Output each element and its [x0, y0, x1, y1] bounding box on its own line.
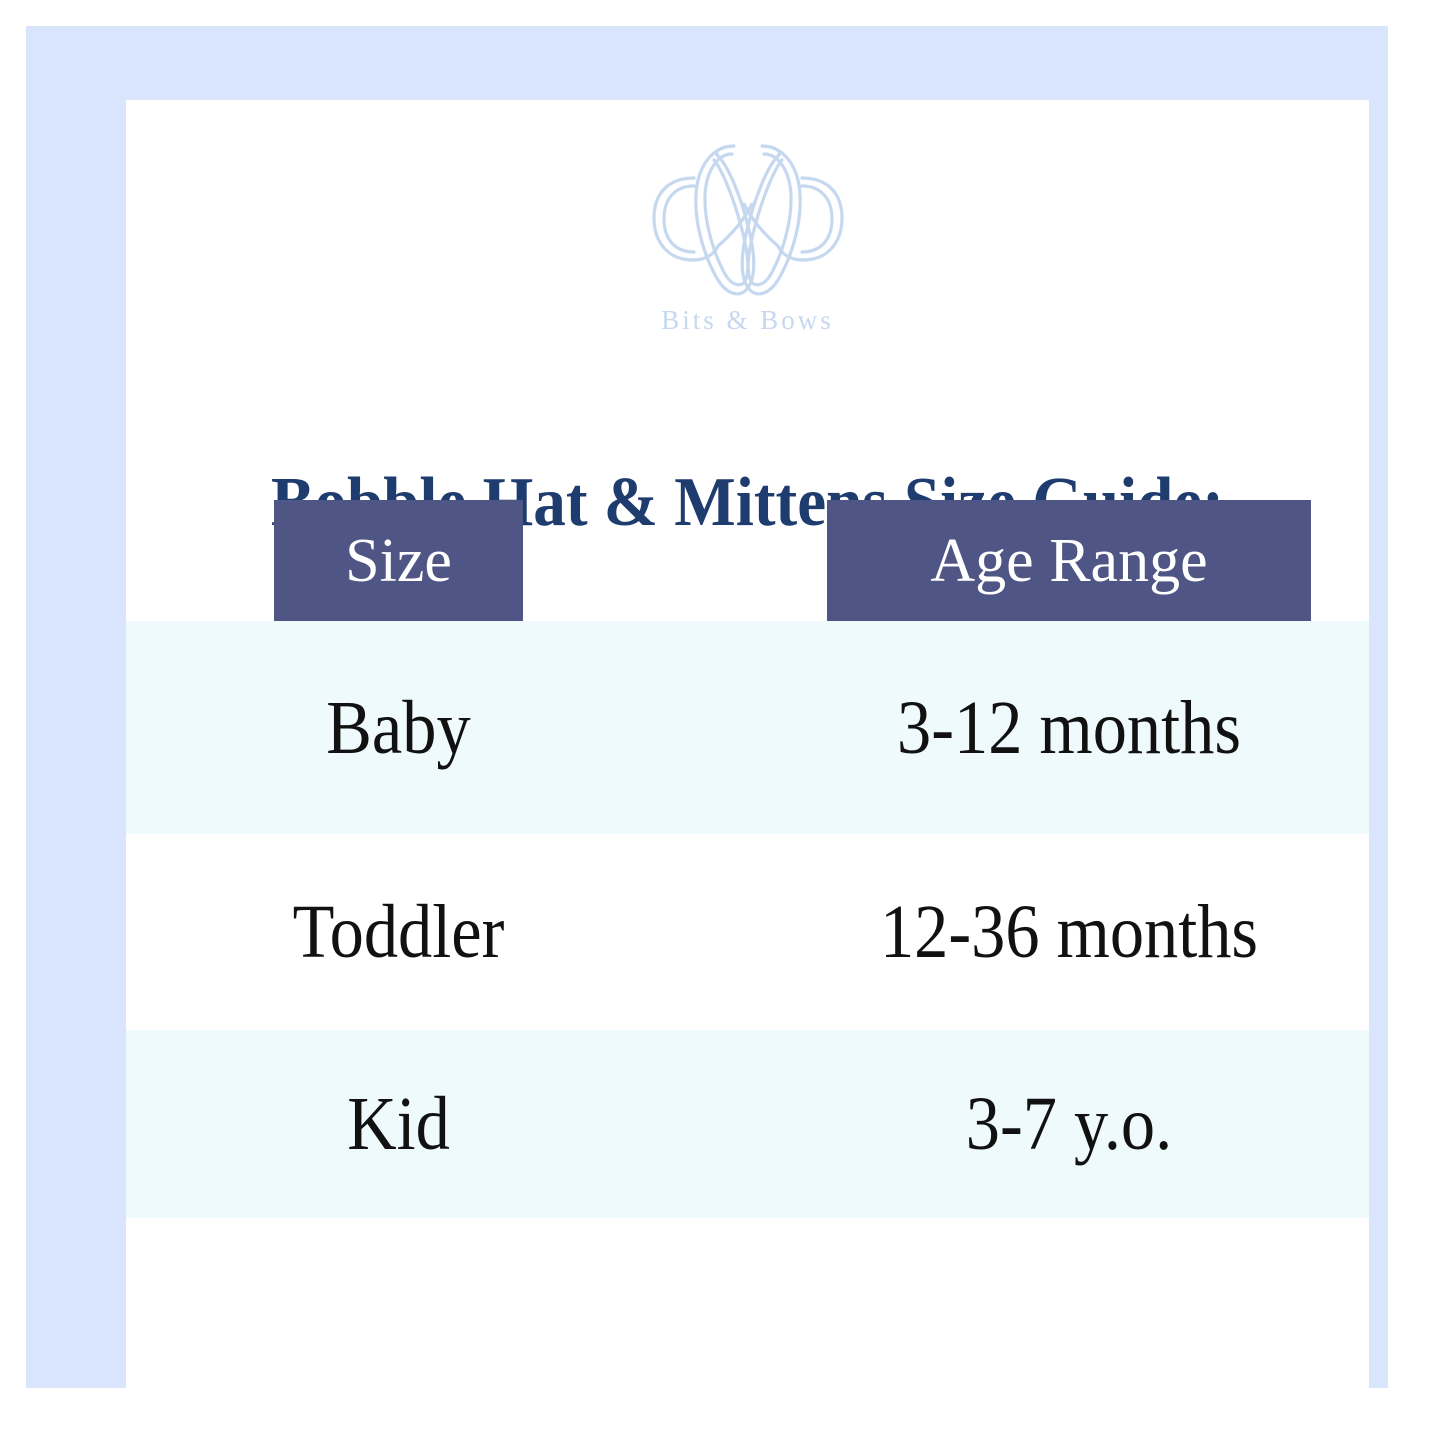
- brand-logo: Bits & Bows: [126, 138, 1369, 334]
- cell-age-range: 12-36 months: [851, 894, 1287, 970]
- size-table: Size Age Range Baby 3-12 months Toddler …: [126, 500, 1369, 1374]
- table-row: Kid 3-7 y.o.: [126, 1030, 1369, 1218]
- table-bottom-spacer: [126, 1218, 1369, 1374]
- decorative-blue-frame: Bits & Bows Bobble Hat & Mittens Size Gu…: [26, 26, 1388, 1388]
- cell-age-range: 3-7 y.o.: [851, 1086, 1287, 1162]
- bb-monogram-icon: [648, 138, 848, 303]
- size-guide-poster: Bits & Bows Bobble Hat & Mittens Size Gu…: [0, 0, 1440, 1440]
- table-header-row: Size Age Range: [126, 500, 1369, 621]
- cell-size: Kid: [286, 1086, 510, 1162]
- content-panel: Bits & Bows Bobble Hat & Mittens Size Gu…: [126, 100, 1369, 1398]
- table-row: Toddler 12-36 months: [126, 834, 1369, 1030]
- column-header-size: Size: [274, 500, 523, 621]
- cell-age-range: 3-12 months: [851, 690, 1287, 766]
- cell-size: Baby: [286, 690, 510, 766]
- column-header-age-range: Age Range: [827, 500, 1311, 621]
- table-row: Baby 3-12 months: [126, 621, 1369, 834]
- cell-size: Toddler: [286, 894, 510, 970]
- brand-wordmark: Bits & Bows: [126, 307, 1369, 334]
